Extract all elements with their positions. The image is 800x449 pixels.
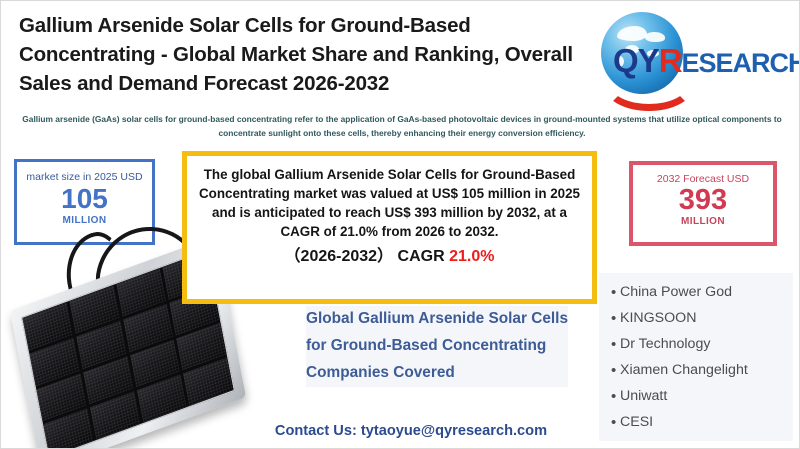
market-summary-box: The global Gallium Arsenide Solar Cells … <box>182 151 597 304</box>
company-name: China Power God <box>620 284 732 300</box>
market-size-label: market size in 2025 USD <box>17 171 152 183</box>
bullet-icon: • <box>611 415 620 430</box>
companies-covered-heading: Global Gallium Arsenide Solar Cells for … <box>306 306 568 387</box>
cagr-label: （2026-2032） CAGR <box>285 248 450 265</box>
company-name: Dr Technology <box>620 336 710 352</box>
forecast-value: 393 <box>633 185 773 215</box>
forecast-unit: MILLION <box>633 216 773 227</box>
bullet-icon: • <box>611 311 620 326</box>
bullet-icon: • <box>611 285 620 300</box>
list-item: • KINGSOON <box>599 305 793 331</box>
logo-text-r: R <box>659 42 682 79</box>
bullet-icon: • <box>611 389 620 404</box>
page-title: Gallium Arsenide Solar Cells for Ground-… <box>19 11 579 98</box>
company-name: KINGSOON <box>620 310 696 326</box>
companies-list: • China Power God • KINGSOON • Dr Techno… <box>599 273 793 441</box>
company-name: Xiamen Changelight <box>620 362 748 378</box>
page-subtitle: Gallium arsenide (GaAs) solar cells for … <box>13 113 791 141</box>
qyresearch-logo: QYRESEARCH <box>593 9 793 101</box>
bullet-icon: • <box>611 363 620 378</box>
bullet-icon: • <box>611 337 620 352</box>
logo-wordmark: QYRESEARCH <box>613 42 800 80</box>
contact-line[interactable]: Contact Us: tytaoyue@qyresearch.com <box>236 423 586 439</box>
list-item: • Xiamen Changelight <box>599 357 793 383</box>
company-name: Uniwatt <box>620 388 667 404</box>
company-name: CESI <box>620 414 653 430</box>
market-size-unit: MILLION <box>17 215 152 226</box>
list-item: • Uniwatt <box>599 383 793 409</box>
list-item: • Dr Technology <box>599 331 793 357</box>
cagr-value: 21.0% <box>449 248 494 265</box>
logo-text-esearch: ESEARCH <box>682 48 800 78</box>
market-size-value: 105 <box>17 184 152 213</box>
market-summary-text: The global Gallium Arsenide Solar Cells … <box>187 156 592 241</box>
forecast-2032-box: 2032 Forecast USD 393 MILLION <box>629 161 777 246</box>
list-item: • China Power God <box>599 279 793 305</box>
logo-text-qy: QY <box>613 42 659 79</box>
list-item: • CESI <box>599 409 793 435</box>
cagr-line: （2026-2032） CAGR 21.0% <box>187 242 592 266</box>
infographic-canvas: Gallium Arsenide Solar Cells for Ground-… <box>0 0 800 449</box>
